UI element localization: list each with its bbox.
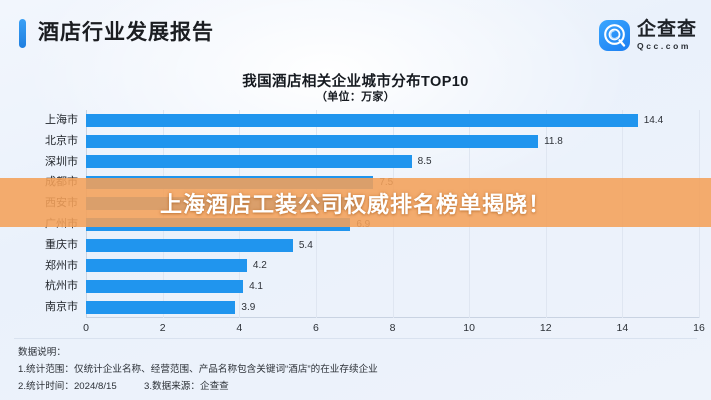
footer-heading: 数据说明： (18, 344, 698, 361)
x-axis-tick-label: 16 (693, 322, 705, 334)
bar (86, 280, 243, 293)
bar (86, 135, 538, 148)
footer-divider (14, 338, 697, 339)
promo-banner-text: 上海酒店工装公司权威排名榜单揭晓！ (0, 178, 711, 227)
bar-row: 4.2 (86, 256, 267, 277)
chart-subtitle: （单位：万家） (0, 88, 711, 104)
bar-row: 3.9 (86, 297, 255, 318)
bar-value-label: 8.5 (418, 156, 432, 167)
x-axis-tick-label: 0 (83, 322, 89, 334)
bar-value-label: 3.9 (241, 302, 255, 313)
x-axis-tick-label: 10 (463, 322, 475, 334)
bar-row: 14.4 (86, 110, 663, 131)
y-axis-category-label: 重庆市 (10, 235, 78, 256)
bar-row: 11.8 (86, 131, 563, 152)
bar-row: 8.5 (86, 152, 432, 173)
footer-note-2: 2.统计时间：2024/8/15 3.数据来源：企查查 (18, 378, 698, 395)
x-axis-tick-label: 14 (617, 322, 629, 334)
x-axis-tick-label: 8 (390, 322, 396, 334)
title-accent-bar (19, 19, 26, 48)
qcc-logo: 企查查 Qcc.com (599, 18, 697, 52)
y-axis-category-label: 南京市 (10, 297, 78, 318)
footer-notes: 数据说明： 1.统计范围：仅统计企业名称、经营范围、产品名称包含关键词“酒店”的… (18, 344, 698, 395)
bar (86, 239, 293, 252)
header: 酒店行业发展报告 企查查 Qcc.com (0, 0, 711, 66)
bar (86, 301, 235, 314)
x-axis-tick-label: 12 (540, 322, 552, 334)
bar-value-label: 5.4 (299, 240, 313, 251)
footer-note-2a: 2.统计时间：2024/8/15 (18, 381, 117, 392)
x-axis-tick-label: 2 (160, 322, 166, 334)
bar-value-label: 4.2 (253, 260, 267, 271)
bar-value-label: 14.4 (644, 115, 663, 126)
y-axis-category-label: 北京市 (10, 131, 78, 152)
bar-row: 5.4 (86, 235, 313, 256)
bar (86, 114, 638, 127)
qcc-logo-en: Qcc.com (637, 42, 697, 51)
qcc-logo-mark-icon (599, 20, 630, 51)
page-title: 酒店行业发展报告 (38, 18, 214, 48)
y-axis-category-label: 深圳市 (10, 152, 78, 173)
bar-value-label: 11.8 (544, 136, 563, 147)
y-axis-category-label: 郑州市 (10, 256, 78, 277)
x-axis-tick-label: 6 (313, 322, 319, 334)
qcc-logo-cn: 企查查 (637, 20, 697, 39)
y-axis-category-label: 杭州市 (10, 276, 78, 297)
bar-row: 4.1 (86, 276, 263, 297)
footer-note-2b: 3.数据来源：企查查 (144, 381, 229, 392)
bar (86, 259, 247, 272)
bar-value-label: 4.1 (249, 281, 263, 292)
qcc-logo-text: 企查查 Qcc.com (637, 20, 697, 51)
footer-note-1: 1.统计范围：仅统计企业名称、经营范围、产品名称包含关键词“酒店”的在业存续企业 (18, 361, 698, 378)
x-axis-tick-label: 4 (236, 322, 242, 334)
bar (86, 155, 412, 168)
y-axis-category-label: 上海市 (10, 110, 78, 131)
poster-root: 酒店行业发展报告 企查查 Qcc.com 我国酒店相关企业城市分布TOP10 （… (0, 0, 711, 400)
